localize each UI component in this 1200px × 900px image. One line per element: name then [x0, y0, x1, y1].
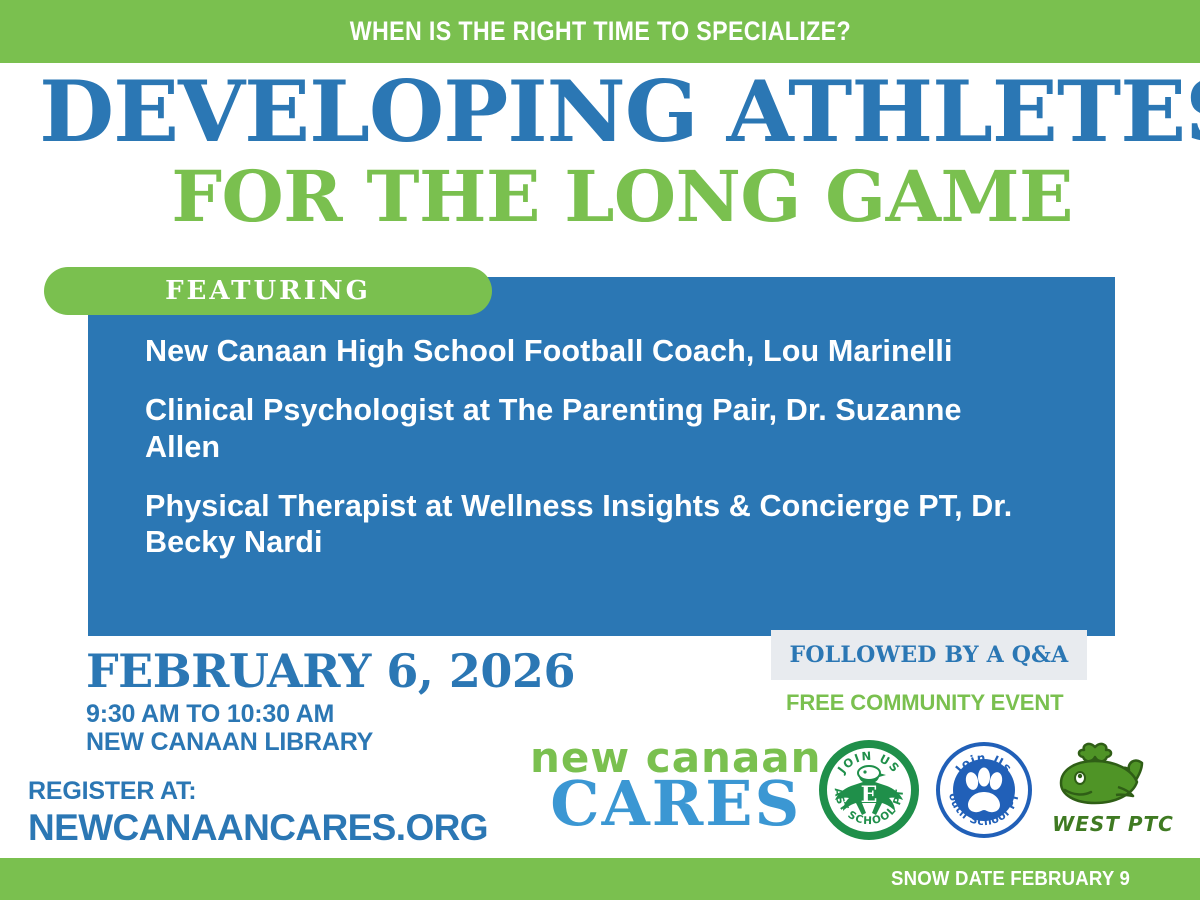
- east-monogram: E: [861, 782, 878, 808]
- logo-text-cares: CARES: [530, 776, 822, 832]
- new-canaan-cares-logo: new canaan CARES: [530, 738, 822, 832]
- featuring-badge: FEATURING: [44, 267, 492, 315]
- headline-line-2: FOR THE LONG GAME: [0, 162, 1200, 232]
- free-event-note: FREE COMMUNITY EVENT: [786, 690, 1064, 716]
- east-school-ptc-logo: E JOIN US EAST SCHOOL PTC: [819, 740, 919, 845]
- qa-note-text: FOLLOWED BY A Q&A: [790, 642, 1069, 668]
- speakers-list: New Canaan High School Football Coach, L…: [145, 333, 1045, 560]
- register-label: REGISTER AT:: [28, 778, 488, 806]
- snow-date-text: SNOW DATE FEBRUARY 9: [891, 868, 1130, 891]
- west-ptc-label: WEST PTC: [1048, 812, 1178, 836]
- bottom-banner: SNOW DATE FEBRUARY 9: [0, 858, 1200, 900]
- list-item: Clinical Psychologist at The Parenting P…: [145, 392, 1032, 465]
- event-flyer: WHEN IS THE RIGHT TIME TO SPECIALIZE? DE…: [0, 0, 1200, 900]
- headline-line-1: DEVELOPING ATHLETES: [0, 70, 1200, 154]
- register-block: REGISTER AT: NEWCANAANCARES.ORG: [28, 778, 488, 848]
- qa-note-box: FOLLOWED BY A Q&A: [771, 630, 1087, 680]
- event-details: FEBRUARY 6, 2026 9:30 AM TO 10:30 AM NEW…: [86, 648, 575, 756]
- list-item: New Canaan High School Football Coach, L…: [145, 333, 1032, 369]
- event-time: 9:30 AM TO 10:30 AM: [86, 700, 575, 728]
- event-location: NEW CANAAN LIBRARY: [86, 728, 575, 756]
- whale-icon: [1048, 733, 1178, 811]
- event-date: FEBRUARY 6, 2026: [86, 648, 575, 694]
- top-banner: WHEN IS THE RIGHT TIME TO SPECIALIZE?: [0, 0, 1200, 63]
- featuring-badge-label: FEATURING: [165, 276, 371, 306]
- register-url[interactable]: NEWCANAANCARES.ORG: [28, 808, 488, 849]
- list-item: Physical Therapist at Wellness Insights …: [145, 488, 1032, 561]
- south-school-ptc-logo: Join Us South School PTC: [934, 740, 1034, 845]
- eagle-icon: E JOIN US EAST SCHOOL PTC: [819, 740, 919, 840]
- top-banner-text: WHEN IS THE RIGHT TIME TO SPECIALIZE?: [349, 16, 850, 47]
- paw-print-icon: Join Us South School PTC: [934, 740, 1034, 840]
- page-title: DEVELOPING ATHLETES FOR THE LONG GAME: [0, 70, 1200, 232]
- west-ptc-logo: WEST PTC: [1048, 733, 1178, 836]
